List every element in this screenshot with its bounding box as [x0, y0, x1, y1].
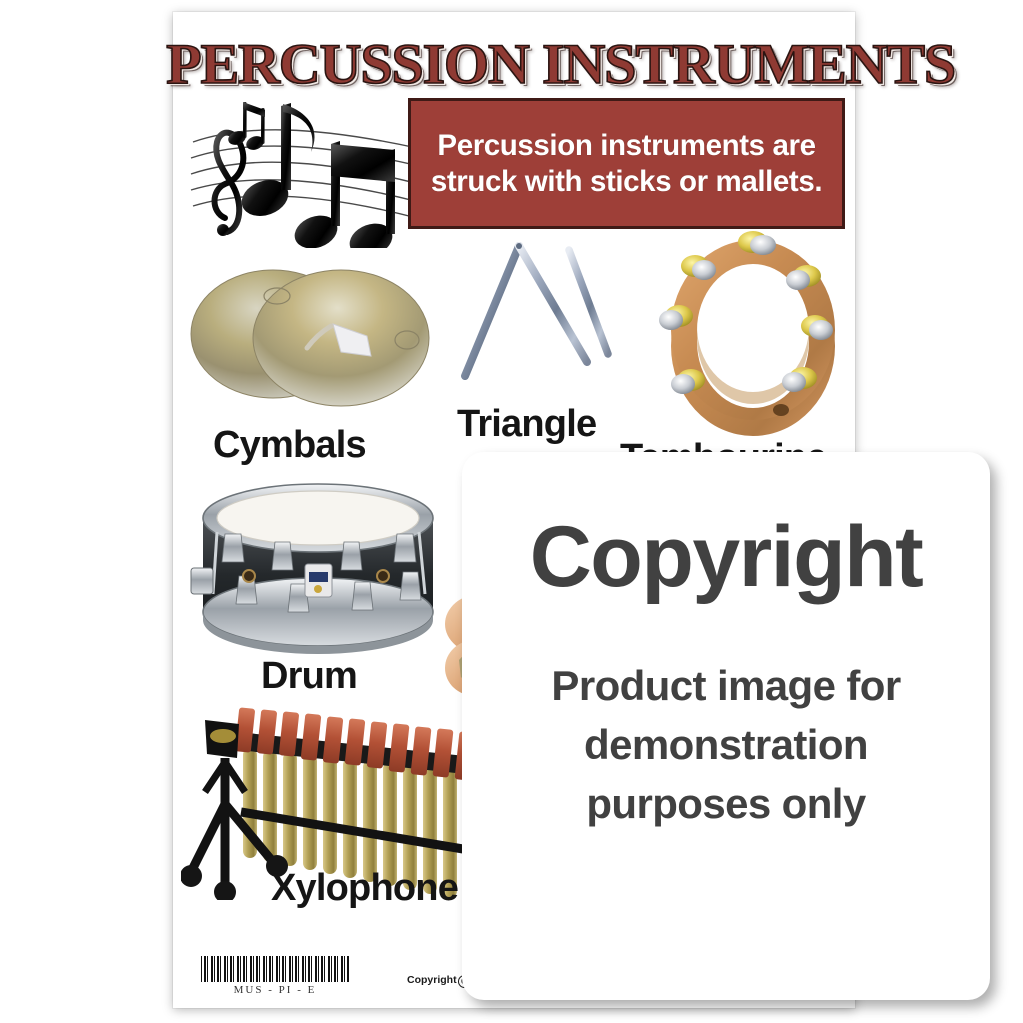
instrument-label-drum: Drum: [261, 655, 357, 698]
barcode-bars: [201, 956, 349, 982]
barcode-number: MUS - PI - E: [201, 984, 349, 996]
snare-drum-image: [179, 472, 457, 672]
cymbals-image: [181, 260, 449, 412]
triangle-image: [453, 228, 643, 396]
page-title: PERCUSSION INSTRUMENTS: [166, 32, 862, 97]
copyright-overlay-card: Copyright Product image for demonstratio…: [462, 452, 990, 1000]
barcode: MUS - PI - E: [201, 956, 349, 996]
screenshot-canvas: PERCUSSION INSTRUMENTS: [0, 0, 1023, 1023]
statement-banner: Percussion instruments are struck with s…: [408, 98, 845, 229]
instrument-label-cymbals: Cymbals: [213, 424, 366, 467]
music-notes-icon: [185, 90, 425, 248]
tambourine-image: [655, 230, 851, 444]
footer-copyright-text: Copyright: [407, 974, 457, 986]
copyright-heading: Copyright: [530, 514, 923, 600]
instrument-label-triangle: Triangle: [457, 403, 596, 446]
instrument-label-xylophone: Xylophone: [271, 867, 458, 910]
copyright-note: Product image for demonstration purposes…: [491, 656, 961, 833]
